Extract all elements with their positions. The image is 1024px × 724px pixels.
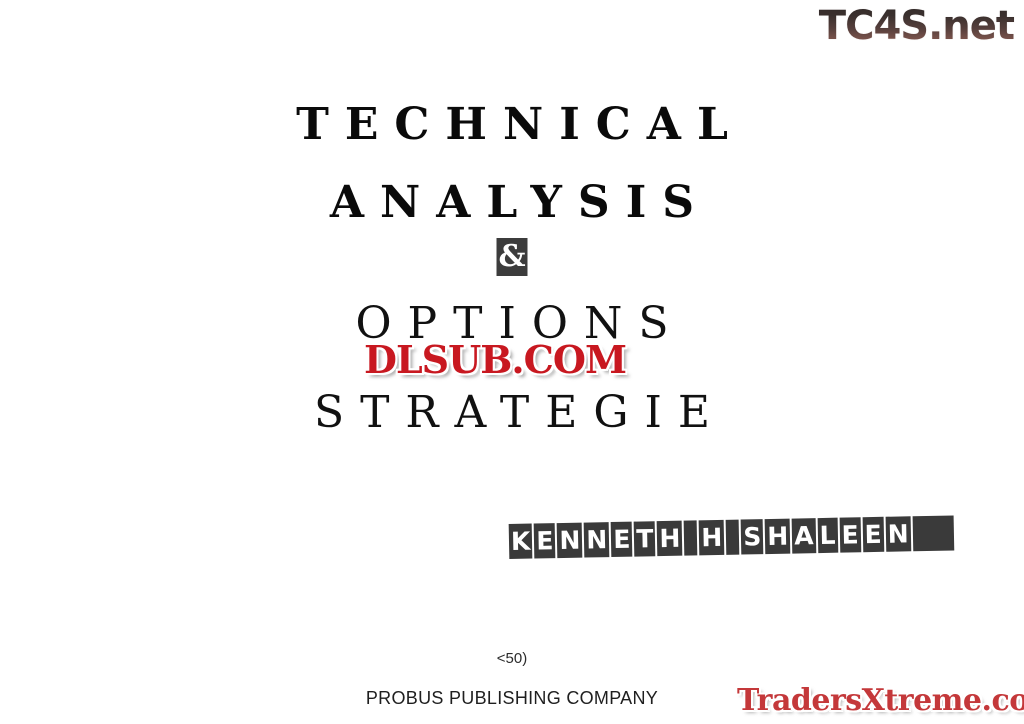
author-letter-tile: S	[741, 519, 764, 554]
author-letter-tile: H	[657, 521, 683, 556]
author-letter-tile: H	[765, 519, 791, 554]
author-letter-tile: T	[634, 521, 656, 556]
author-spacer-tile	[726, 520, 740, 555]
author-letter-tile: E	[611, 522, 633, 557]
author-name-strip: KENNETHHSHALEEN	[509, 515, 954, 559]
author-letter-tile: N	[557, 523, 583, 558]
tradersxtreme-watermark: TradersXtreme.com	[737, 684, 1024, 718]
author-letter-tile: N	[885, 516, 911, 551]
author-letter-tile: E	[862, 517, 884, 552]
author-spacer-tile	[684, 520, 698, 555]
author-letter-tile: K	[509, 524, 533, 559]
book-cover-page: TC4S.net TECHNICAL ANALYSIS & OPTIONS DL…	[0, 0, 1024, 724]
author-letter-tile: N	[584, 522, 610, 557]
author-letter-tile: L	[817, 518, 838, 553]
author-letter-tile: H	[699, 520, 725, 555]
page-number: <50)	[0, 650, 1024, 667]
ampersand-tile: &	[497, 238, 528, 276]
dlsub-watermark: DLSUB.COM	[364, 341, 626, 379]
cover-title-strategie: STRATEGIE	[0, 387, 1024, 438]
cover-title-analysis: ANALYSIS	[0, 177, 1024, 228]
cover-title-technical: TECHNICAL	[0, 99, 1024, 150]
tc4s-site-logo: TC4S.net	[819, 2, 1014, 50]
author-letter-tile: E	[839, 517, 861, 552]
author-letter-tile: A	[792, 518, 816, 553]
author-letter-tile: E	[534, 523, 556, 558]
author-spacer-tile	[912, 515, 954, 551]
